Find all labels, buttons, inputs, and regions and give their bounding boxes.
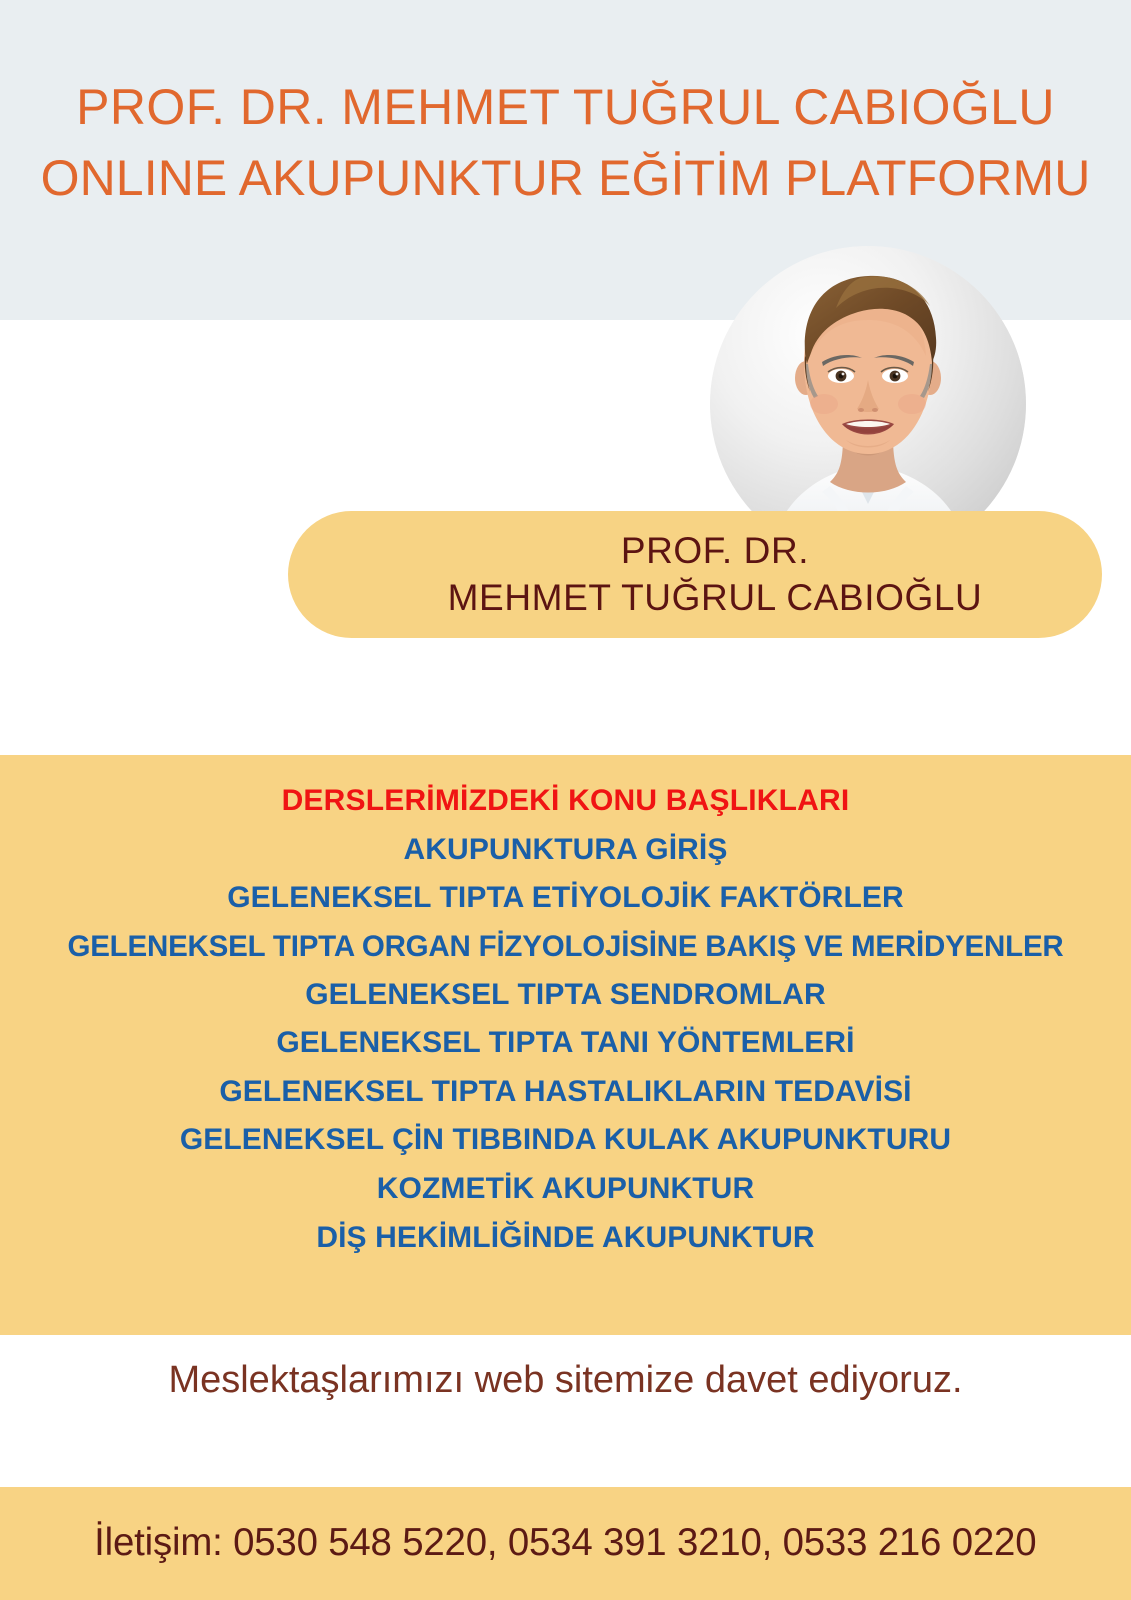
topics-block: DERSLERİMİZDEKİ KONU BAŞLIKLARI AKUPUNKT… [0, 755, 1131, 1335]
page-title-line-1: PROF. DR. MEHMET TUĞRUL CABIOĞLU [76, 79, 1055, 135]
topic-item: GELENEKSEL ÇİN TIBBINDA KULAK AKUPUNKTUR… [0, 1116, 1131, 1165]
page-title-line-2: ONLINE AKUPUNKTUR EĞİTİM PLATFORMU [0, 143, 1131, 214]
topics-list: AKUPUNKTURA GİRİŞ GELENEKSEL TIPTA ETİYO… [0, 826, 1131, 1263]
name-badge: PROF. DR. MEHMET TUĞRUL CABIOĞLU [288, 511, 1102, 638]
name-badge-line-1: PROF. DR. [621, 528, 809, 574]
name-badge-line-2: MEHMET TUĞRUL CABIOĞLU [448, 575, 983, 621]
page-title: PROF. DR. MEHMET TUĞRUL CABIOĞLU ONLINE … [0, 72, 1131, 214]
topics-heading: DERSLERİMİZDEKİ KONU BAŞLIKLARI [0, 777, 1131, 826]
invitation-text: Meslektaşlarımızı web sitemize davet edi… [0, 1358, 1131, 1404]
poster-root: PROF. DR. MEHMET TUĞRUL CABIOĞLU ONLINE … [0, 0, 1131, 1600]
contact-phone-numbers: İletişim: 0530 548 5220, 0534 391 3210, … [94, 1522, 1036, 1565]
topic-item: AKUPUNKTURA GİRİŞ [0, 826, 1131, 875]
contact-bar: İletişim: 0530 548 5220, 0534 391 3210, … [0, 1487, 1131, 1600]
topic-item: GELENEKSEL TIPTA ETİYOLOJİK FAKTÖRLER [0, 874, 1131, 923]
topic-item: GELENEKSEL TIPTA ORGAN FİZYOLOJİSİNE BAK… [0, 923, 1131, 971]
topic-item: GELENEKSEL TIPTA SENDROMLAR [0, 971, 1131, 1020]
topic-item: DİŞ HEKİMLİĞİNDE AKUPUNKTUR [0, 1214, 1131, 1263]
topic-item: GELENEKSEL TIPTA HASTALIKLARIN TEDAVİSİ [0, 1068, 1131, 1117]
topic-item: KOZMETİK AKUPUNKTUR [0, 1165, 1131, 1214]
topic-item: GELENEKSEL TIPTA TANI YÖNTEMLERİ [0, 1019, 1131, 1068]
